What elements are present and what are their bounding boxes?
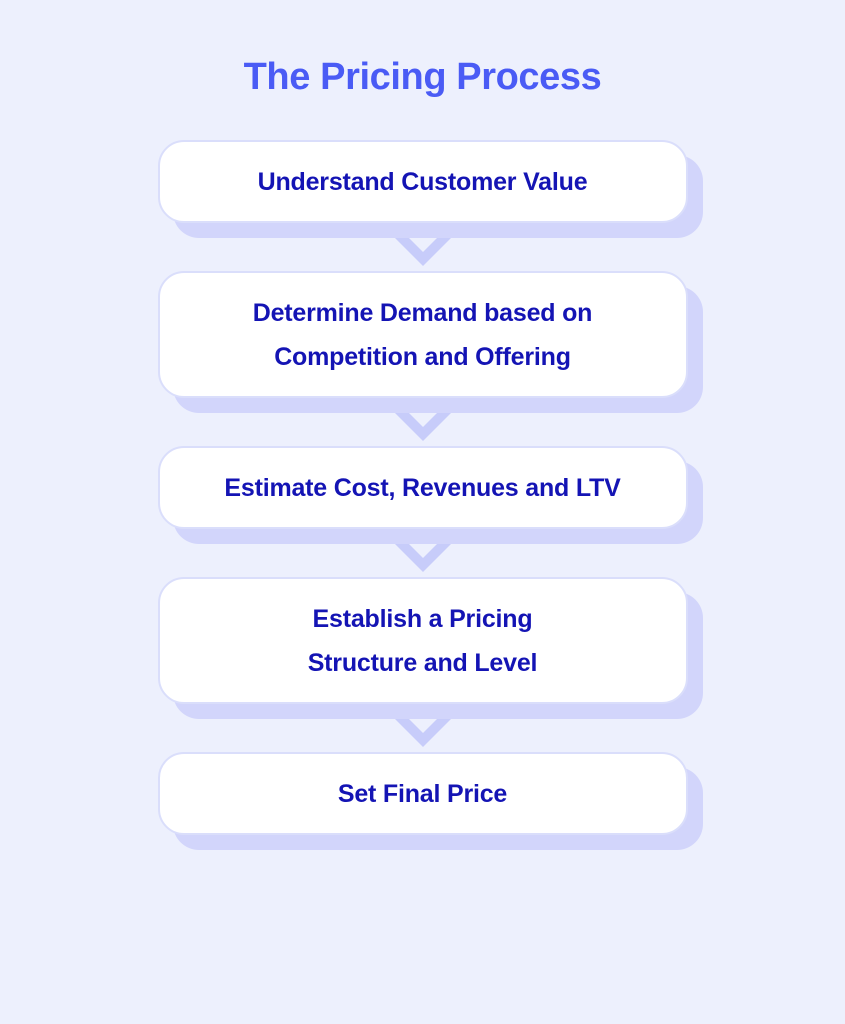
- step-4-label: Establish a Pricing Structure and Level: [308, 597, 538, 685]
- page-title: The Pricing Process: [0, 52, 845, 102]
- flow-step-3: Estimate Cost, Revenues and LTV: [158, 446, 688, 529]
- step-4-box[interactable]: Establish a Pricing Structure and Level: [158, 577, 688, 704]
- step-1-label: Understand Customer Value: [258, 160, 588, 204]
- flow-step-4: Establish a Pricing Structure and Level: [158, 577, 688, 704]
- flow-step-5: Set Final Price: [158, 752, 688, 835]
- flowchart-steps: Understand Customer Value Determine Dema…: [0, 140, 845, 835]
- step-5-box[interactable]: Set Final Price: [158, 752, 688, 835]
- step-3-line-1: Estimate Cost, Revenues and LTV: [224, 474, 620, 502]
- step-1-box[interactable]: Understand Customer Value: [158, 140, 688, 223]
- step-2-label: Determine Demand based on Competition an…: [253, 291, 593, 379]
- step-4-line-1: Establish a Pricing: [308, 597, 538, 641]
- step-5-line-1: Set Final Price: [338, 780, 507, 808]
- step-3-box[interactable]: Estimate Cost, Revenues and LTV: [158, 446, 688, 529]
- flow-step-1: Understand Customer Value: [158, 140, 688, 223]
- step-5-label: Set Final Price: [338, 772, 507, 816]
- step-4-line-2: Structure and Level: [308, 641, 538, 685]
- step-3-label: Estimate Cost, Revenues and LTV: [224, 466, 620, 510]
- step-1-line-1: Understand Customer Value: [258, 168, 588, 196]
- flow-step-2: Determine Demand based on Competition an…: [158, 271, 688, 398]
- step-2-line-2: Competition and Offering: [253, 335, 593, 379]
- step-2-line-1: Determine Demand based on: [253, 291, 593, 335]
- step-2-box[interactable]: Determine Demand based on Competition an…: [158, 271, 688, 398]
- flowchart-canvas: The Pricing Process Understand Customer …: [0, 0, 845, 1024]
